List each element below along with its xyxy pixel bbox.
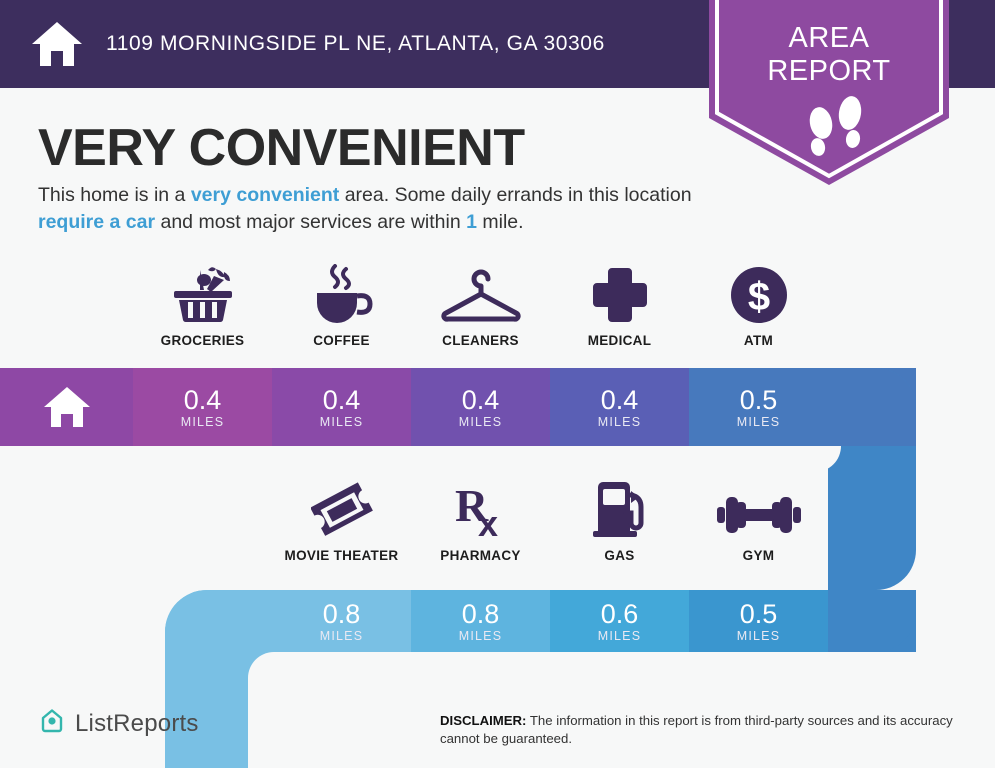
distance-value: 0.4 — [184, 386, 222, 414]
badge-title: AREA REPORT — [709, 22, 949, 88]
distance-bar-row-1: 0.4 MILES 0.4 MILES 0.4 MILES 0.4 MILES … — [0, 368, 916, 446]
distance-unit: MILES — [459, 629, 503, 643]
amenity-label: GROCERIES — [161, 333, 245, 348]
amenity-coffee: COFFEE — [272, 262, 411, 348]
amenity-label: PHARMACY — [440, 548, 520, 563]
amenity-label: MOVIE THEATER — [285, 548, 399, 563]
bar-gap-mask-lower — [248, 652, 948, 768]
gas-pump-icon — [590, 477, 650, 539]
amenity-gym: GYM — [689, 477, 828, 563]
page-subtitle: This home is in a very convenient area. … — [38, 182, 718, 236]
disclaimer-label: DISCLAIMER: — [440, 713, 526, 728]
badge-line-1: AREA — [709, 22, 949, 55]
area-report-badge: AREA REPORT — [709, 0, 949, 185]
distance-cell-atm: 0.5 MILES — [689, 368, 828, 446]
subtitle-text-3: and most major services are within — [155, 211, 466, 233]
distance-unit: MILES — [459, 415, 503, 429]
distance-cell-coffee: 0.4 MILES — [272, 368, 411, 446]
amenity-gas: GAS — [550, 477, 689, 563]
badge-line-2: REPORT — [709, 55, 949, 88]
amenity-label: COFFEE — [313, 333, 370, 348]
movie-ticket-icon — [311, 477, 373, 539]
distance-unit: MILES — [737, 629, 781, 643]
listreports-house-icon — [38, 707, 66, 740]
disclaimer: DISCLAIMER: The information in this repo… — [440, 712, 980, 748]
distance-value: 0.8 — [323, 600, 361, 628]
subtitle-highlight-1: very convenient — [191, 184, 339, 206]
home-icon — [30, 19, 84, 69]
listreports-logo: ListReports — [38, 707, 199, 740]
bar-connector-right-top — [828, 368, 916, 446]
area-report-page: 1109 MORNINGSIDE PL NE, ATLANTA, GA 3030… — [0, 0, 995, 768]
amenity-label: ATM — [744, 333, 773, 348]
svg-text:x: x — [478, 503, 498, 539]
medical-cross-icon — [591, 262, 649, 324]
distance-cell-gym: 0.5 MILES — [689, 590, 828, 652]
distance-unit: MILES — [181, 415, 225, 429]
distance-cell-gas: 0.6 MILES — [550, 590, 689, 652]
distance-cell-pharmacy: 0.8 MILES — [411, 590, 550, 652]
rx-icon: R x — [454, 477, 508, 539]
distance-value: 0.4 — [323, 386, 361, 414]
distance-value: 0.5 — [740, 386, 778, 414]
page-title: VERY CONVENIENT — [38, 118, 525, 178]
distance-cell-cleaners: 0.4 MILES — [411, 368, 550, 446]
distance-value: 0.4 — [601, 386, 639, 414]
amenity-icon-row-1: GROCERIES COFFEE CLEANERS — [133, 262, 828, 348]
distance-unit: MILES — [320, 629, 364, 643]
distance-value: 0.4 — [462, 386, 500, 414]
dollar-circle-icon: $ — [730, 262, 788, 324]
distance-unit: MILES — [598, 415, 642, 429]
distance-cell-groceries: 0.4 MILES — [133, 368, 272, 446]
distance-unit: MILES — [320, 415, 364, 429]
amenity-medical: MEDICAL — [550, 262, 689, 348]
coffee-cup-icon — [311, 262, 373, 324]
distance-bar-row-2: 0.8 MILES 0.8 MILES 0.6 MILES 0.5 MILES — [165, 590, 916, 652]
distance-value: 0.8 — [462, 600, 500, 628]
subtitle-highlight-3: 1 — [466, 211, 477, 233]
amenity-atm: $ ATM — [689, 262, 828, 348]
home-marker — [0, 368, 133, 446]
subtitle-highlight-2: require a car — [38, 211, 155, 233]
amenity-label: MEDICAL — [588, 333, 652, 348]
amenity-cleaners: CLEANERS — [411, 262, 550, 348]
property-address: 1109 MORNINGSIDE PL NE, ATLANTA, GA 3030… — [106, 32, 605, 56]
distance-value: 0.6 — [601, 600, 639, 628]
subtitle-text-2: area. Some daily errands in this locatio… — [339, 184, 691, 206]
distance-unit: MILES — [598, 629, 642, 643]
subtitle-text-1: This home is in a — [38, 184, 191, 206]
amenity-label: CLEANERS — [442, 333, 519, 348]
distance-cell-medical: 0.4 MILES — [550, 368, 689, 446]
clothes-hanger-icon — [440, 262, 522, 324]
distance-bar-lead — [165, 590, 272, 652]
amenity-groceries: GROCERIES — [133, 262, 272, 348]
dumbbell-icon — [717, 477, 801, 539]
distance-unit: MILES — [737, 415, 781, 429]
amenity-movie-theater: MOVIE THEATER — [272, 477, 411, 563]
amenity-icon-row-2: MOVIE THEATER R x PHARMACY — [272, 477, 828, 563]
amenity-pharmacy: R x PHARMACY — [411, 477, 550, 563]
subtitle-text-4: mile. — [477, 211, 524, 233]
distance-cell-movie-theater: 0.8 MILES — [272, 590, 411, 652]
distance-value: 0.5 — [740, 600, 778, 628]
listreports-logo-text: ListReports — [75, 710, 199, 738]
svg-text:$: $ — [747, 275, 769, 319]
amenity-label: GYM — [743, 548, 775, 563]
amenity-label: GAS — [604, 548, 634, 563]
grocery-basket-icon — [170, 262, 236, 324]
